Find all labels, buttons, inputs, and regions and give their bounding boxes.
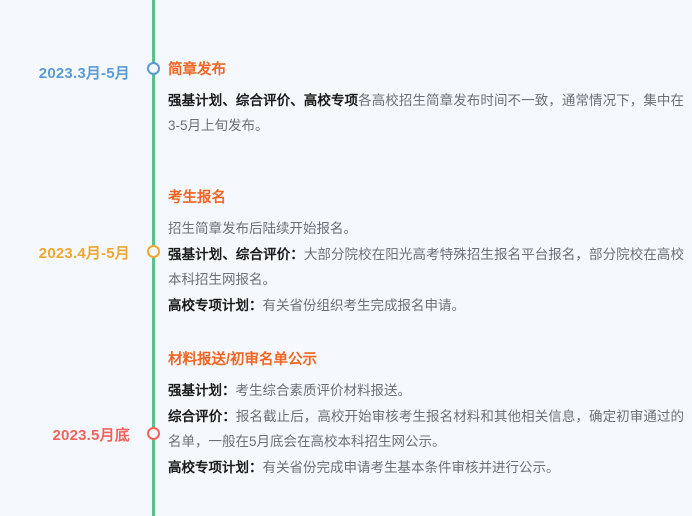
paragraph-label: 高校专项计划： [168,460,263,475]
timeline-content-1: 简章发布 强基计划、综合评价、高校专项各高校招生简章发布时间不一致，通常情况下，… [168,62,684,139]
paragraph-text: 有关省份完成申请考生基本条件审核并进行公示。 [263,460,560,475]
section-title-3: 材料报送/初审名单公示 [168,352,684,369]
section-title-2: 考生报名 [168,190,684,207]
paragraph-text: 考生综合素质评价材料报送。 [236,383,412,398]
timeline-marker-3 [147,427,160,440]
timeline-content-3: 材料报送/初审名单公示 强基计划：考生综合素质评价材料报送。 综合评价：报名截止… [168,352,684,481]
paragraph: 招生简章发布后陆续开始报名。 [168,216,684,241]
paragraph-label: 高校专项计划： [168,298,263,313]
timeline-infographic: 2023.3月-5月 简章发布 强基计划、综合评价、高校专项各高校招生简章发布时… [0,0,692,516]
timeline-marker-2 [147,245,160,258]
paragraph: 强基计划：考生综合素质评价材料报送。 [168,378,684,403]
paragraph: 高校专项计划：有关省份组织考生完成报名申请。 [168,293,684,318]
paragraph-text: 招生简章发布后陆续开始报名。 [168,221,357,236]
timeline-date-3: 2023.5月底 [0,424,130,445]
paragraph-text: 报名截止后，高校开始审核考生报名材料和其他相关信息，确定初审通过的名单，一般在5… [168,409,684,449]
section-title-1: 简章发布 [168,62,684,79]
paragraph-text: 有关省份组织考生完成报名申请。 [263,298,466,313]
paragraph: 综合评价：报名截止后，高校开始审核考生报名材料和其他相关信息，确定初审通过的名单… [168,404,684,454]
timeline-date-2: 2023.4月-5月 [0,242,130,263]
timeline-marker-1 [147,62,160,75]
paragraph-label: 强基计划、综合评价： [168,247,304,262]
paragraph-label: 强基计划： [168,383,236,398]
timeline-content-2: 考生报名 招生简章发布后陆续开始报名。 强基计划、综合评价：大部分院校在阳光高考… [168,190,684,319]
paragraph: 高校专项计划：有关省份完成申请考生基本条件审核并进行公示。 [168,455,684,480]
paragraph: 强基计划、综合评价：大部分院校在阳光高考特殊招生报名平台报名，部分院校在高校本科… [168,242,684,292]
paragraph: 强基计划、综合评价、高校专项各高校招生简章发布时间不一致，通常情况下，集中在3-… [168,88,684,138]
paragraph-label: 综合评价： [168,409,236,424]
timeline-date-1: 2023.3月-5月 [0,62,130,83]
paragraph-label: 强基计划、综合评价、高校专项 [168,93,358,108]
